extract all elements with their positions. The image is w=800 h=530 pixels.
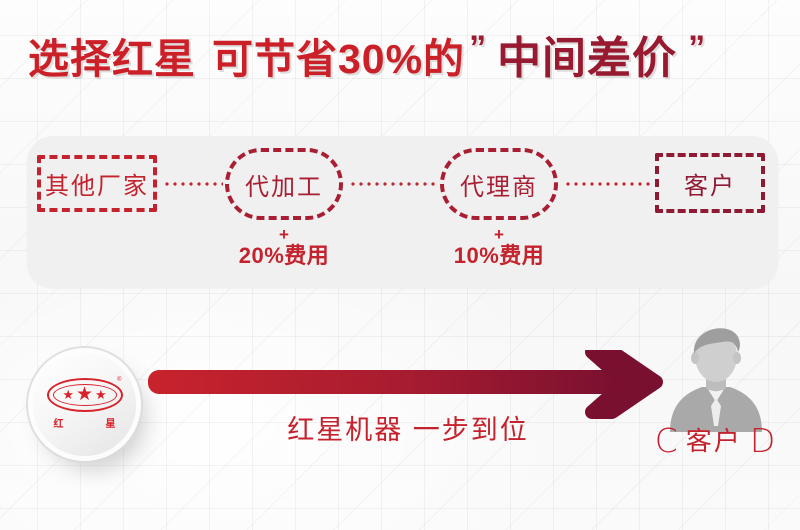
flow-connector-dotted-3 (564, 182, 652, 186)
star-icon-left: ★ (62, 388, 74, 401)
star-icon-center: ★ (76, 385, 93, 404)
logo-oval-frame: ★ ★ ★ ® (47, 378, 123, 412)
quote-open-mark: ” (469, 31, 486, 65)
poster-canvas: 选择红星 可节省30%的 ” 中间差价 ” 其他厂家 代加工 代理商 客户 + … (0, 0, 800, 530)
bracket-right-icon: D (750, 424, 775, 457)
businessman-avatar-icon (664, 322, 768, 432)
logo-char-hong: 红 (54, 415, 64, 430)
logo-char-xing: 星 (106, 415, 116, 430)
flow-node-agent: 代理商 (440, 148, 558, 220)
registered-trademark-icon: ® (117, 377, 121, 383)
flow-node-label: 客户 (684, 166, 736, 201)
headline: 选择红星 可节省30%的 ” 中间差价 ” (28, 28, 778, 90)
logo-wordmark: 红 星 (54, 415, 116, 430)
arrow-caption: 红星机器 一步到位 (258, 408, 558, 447)
flow-node-customer: 客户 (655, 153, 765, 213)
headline-part2: 可节省30%的 (212, 39, 465, 80)
fee-amount: 20%费用 (204, 242, 364, 270)
flow-connector-dotted-2 (349, 182, 437, 186)
flow-node-label: 代理商 (460, 167, 538, 202)
bracket-left-icon: C (655, 424, 678, 457)
fee-annotation-agent: + 10%费用 (419, 228, 579, 270)
fee-annotation-subcontractor: + 20%费用 (204, 228, 364, 270)
star-icon-right: ★ (95, 388, 107, 401)
fee-amount: 10%费用 (419, 242, 579, 270)
flow-node-label: 代加工 (245, 167, 323, 202)
fee-plus-sign: + (419, 228, 579, 242)
headline-emphasis: 中间差价 (497, 37, 677, 81)
logo-inner: ★ ★ ★ ® 红 星 (46, 378, 124, 432)
flow-node-label: 其他厂家 (45, 166, 149, 201)
hongxing-logo-badge: ★ ★ ★ ® 红 星 (33, 353, 136, 456)
fee-plus-sign: + (204, 228, 364, 242)
flow-node-subcontractor: 代加工 (225, 148, 343, 220)
customer-label: 客户 (686, 428, 742, 454)
quote-close-mark: ” (688, 31, 705, 65)
headline-part1: 选择红星 (28, 39, 196, 80)
customer-label-group: C 客户 D (640, 424, 790, 457)
flow-node-other-factory: 其他厂家 (37, 155, 157, 212)
flow-connector-dotted-1 (163, 182, 223, 186)
